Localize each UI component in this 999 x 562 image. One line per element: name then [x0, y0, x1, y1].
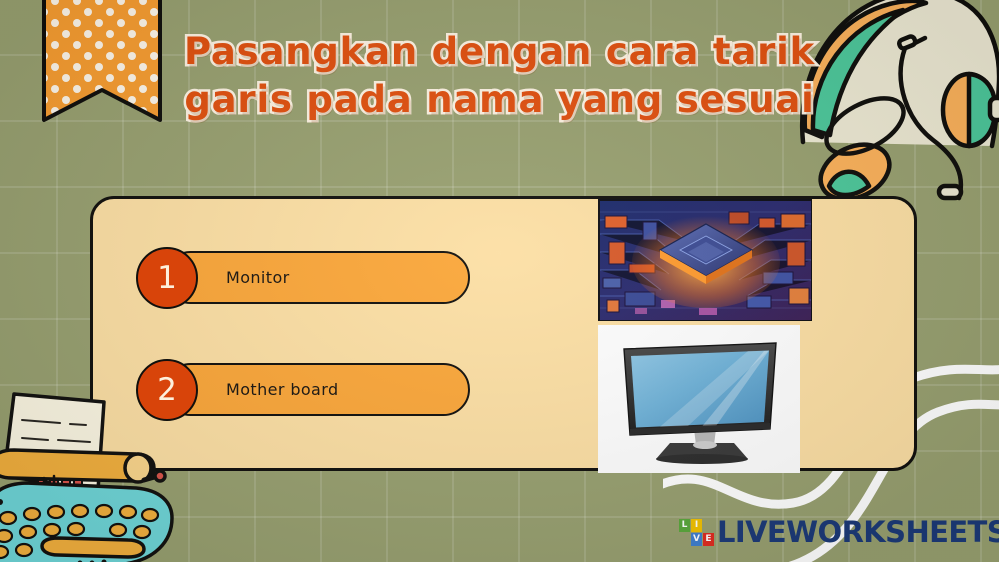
logo-wordmark: LIVEWORKSHEETS	[717, 518, 999, 547]
answer-pill-2[interactable]: Mother board	[164, 363, 470, 416]
list-item[interactable]: Monitor 1	[136, 247, 476, 309]
logo-tiles: L I V E	[679, 519, 714, 546]
logo-tile-e: E	[703, 533, 714, 546]
liveworksheets-logo[interactable]: L I V E LIVEWORKSHEETS	[679, 512, 999, 552]
logo-tile-empty2	[679, 533, 690, 546]
headphones-icon	[787, 0, 999, 212]
logo-tile-i: I	[691, 519, 702, 532]
logo-tile-empty	[703, 519, 714, 532]
banner-flag-icon	[38, 0, 166, 132]
worksheet-page: Pasangkan dengan cara tarik garis pada n…	[0, 0, 999, 562]
list-item[interactable]: Mother board 2	[136, 359, 476, 421]
monitor-illustration	[598, 325, 800, 473]
item-label: Monitor	[226, 268, 290, 287]
motherboard-illustration	[599, 200, 812, 321]
logo-tile-v: V	[691, 533, 702, 546]
logo-tile-l: L	[679, 519, 690, 532]
motherboard-photo[interactable]	[598, 199, 812, 321]
answer-pill-1[interactable]: Monitor	[164, 251, 470, 304]
item-label: Mother board	[226, 380, 339, 399]
item-number-badge-1: 1	[136, 247, 198, 309]
monitor-photo[interactable]	[598, 325, 800, 473]
item-number-badge-2: 2	[136, 359, 198, 421]
